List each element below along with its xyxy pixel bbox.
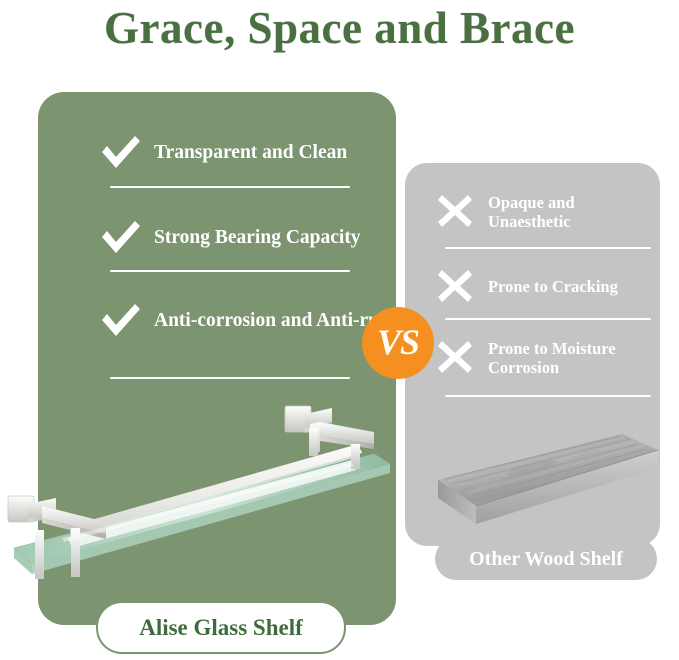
list-item: Anti-corrosion and Anti-rust bbox=[100, 300, 400, 340]
list-item: Opaque and Unaesthetic bbox=[435, 192, 660, 232]
check-icon bbox=[100, 132, 142, 172]
list-divider bbox=[445, 318, 651, 320]
vs-badge-label: VS bbox=[377, 324, 419, 360]
cross-icon bbox=[435, 192, 477, 232]
vs-badge: VS bbox=[362, 307, 434, 379]
list-item: Strong Bearing Capacity bbox=[100, 217, 400, 257]
check-icon bbox=[100, 300, 142, 340]
check-icon bbox=[100, 217, 142, 257]
cross-icon bbox=[435, 267, 477, 307]
glass-shelf-image bbox=[2, 378, 400, 618]
list-item-label: Transparent and Clean bbox=[154, 141, 347, 164]
glass-shelf-label: Alise Glass Shelf bbox=[139, 615, 303, 641]
list-item: Prone to Moisture Corrosion bbox=[435, 338, 660, 378]
wood-shelf-image bbox=[432, 428, 664, 540]
infographic-canvas: Grace, Space and Brace Transparent and C… bbox=[0, 0, 679, 660]
glass-shelf-label-pill: Alise Glass Shelf bbox=[96, 601, 346, 654]
list-item: Transparent and Clean bbox=[100, 132, 400, 172]
list-item-label: Opaque and Unaesthetic bbox=[488, 193, 660, 232]
cross-icon bbox=[435, 338, 477, 378]
list-divider bbox=[445, 395, 651, 397]
list-item-label: Anti-corrosion and Anti-rust bbox=[154, 309, 393, 332]
wood-shelf-label: Other Wood Shelf bbox=[469, 548, 623, 571]
wood-shelf-label-pill: Other Wood Shelf bbox=[435, 538, 657, 580]
list-divider bbox=[110, 186, 350, 188]
list-item-label: Prone to Cracking bbox=[488, 277, 618, 296]
list-item-label: Prone to Moisture Corrosion bbox=[488, 339, 660, 378]
page-title: Grace, Space and Brace bbox=[0, 2, 679, 54]
list-item: Prone to Cracking bbox=[435, 267, 660, 307]
list-divider bbox=[445, 247, 651, 249]
list-item-label: Strong Bearing Capacity bbox=[154, 226, 361, 249]
list-divider bbox=[110, 270, 350, 272]
